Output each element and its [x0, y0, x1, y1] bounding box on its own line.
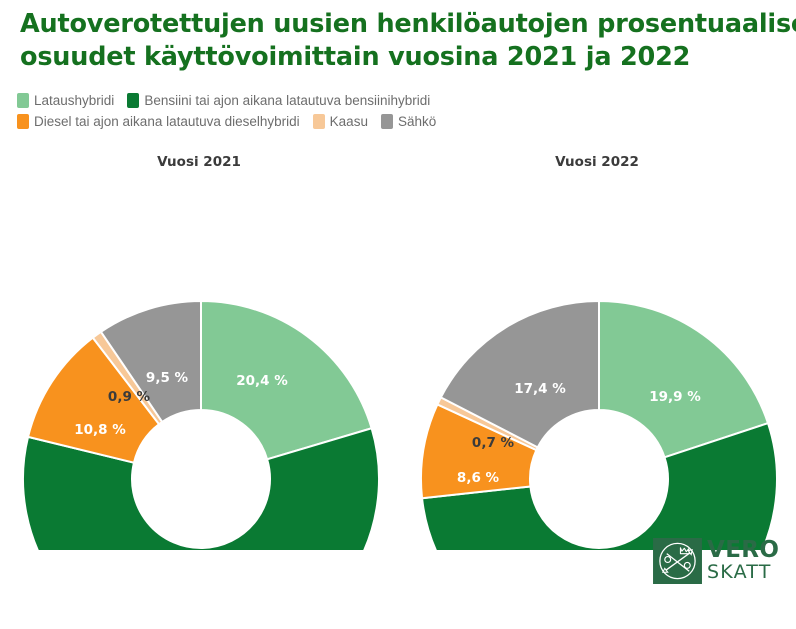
legend-label-sahko: Sähkö [398, 114, 436, 130]
legend-swatch-lataushybridi [17, 93, 29, 108]
donut-caption-2022: Vuosi 2022 [398, 154, 796, 170]
legend-label-bensiini: Bensiini tai ajon aikana latautuva bensi… [144, 93, 430, 109]
vero-skatt-logo: VERO SKATT [653, 536, 785, 586]
donut-panel-2022: Vuosi 2022 19,9 %53,3 %8,6 %0,7 %17,4 % [398, 150, 796, 550]
donut-panel-2021: Vuosi 2021 20,4 %58,4 %10,8 %0,9 %9,5 % [0, 150, 398, 550]
legend-row: LataushybridiBensiini tai ajon aikana la… [17, 90, 777, 111]
legend-label-diesel: Diesel tai ajon aikana latautuva dieselh… [34, 114, 300, 130]
donut-chart-vuosi-2022 [399, 174, 796, 550]
legend-item-kaasu[interactable]: Kaasu [313, 114, 368, 130]
legend-item-lataushybridi[interactable]: Lataushybridi [17, 93, 114, 109]
legend-row: Diesel tai ajon aikana latautuva dieselh… [17, 111, 777, 132]
logo-vero-text: VERO [707, 539, 779, 562]
legend-item-bensiini[interactable]: Bensiini tai ajon aikana latautuva bensi… [127, 93, 430, 109]
page-title: Autoverotettujen uusien henkilöautojen p… [20, 8, 776, 74]
page-title-line-2: osuudet käyttövoimittain vuosina 2021 ja… [20, 41, 776, 74]
slice-value-label-bensiini: 58,4 % [178, 613, 230, 629]
donut-chart-vuosi-2021 [1, 174, 399, 550]
page-title-line-1: Autoverotettujen uusien henkilöautojen p… [20, 8, 776, 41]
vero-emblem-icon [653, 538, 702, 584]
legend-swatch-sahko [381, 114, 393, 129]
legend-label-lataushybridi: Lataushybridi [34, 93, 114, 109]
donut-caption-2021: Vuosi 2021 [0, 154, 398, 170]
legend-item-sahko[interactable]: Sähkö [381, 114, 436, 130]
legend-swatch-kaasu [313, 114, 325, 129]
logo-wordmark: VERO SKATT [707, 539, 779, 583]
legend-item-diesel[interactable]: Diesel tai ajon aikana latautuva dieselh… [17, 114, 300, 130]
chart-legend: LataushybridiBensiini tai ajon aikana la… [17, 90, 777, 132]
slice-value-label-bensiini: 53,3 % [600, 610, 652, 626]
legend-label-kaasu: Kaasu [330, 114, 368, 130]
logo-skatt-text: SKATT [707, 562, 779, 583]
legend-swatch-bensiini [127, 93, 139, 108]
legend-swatch-diesel [17, 114, 29, 129]
